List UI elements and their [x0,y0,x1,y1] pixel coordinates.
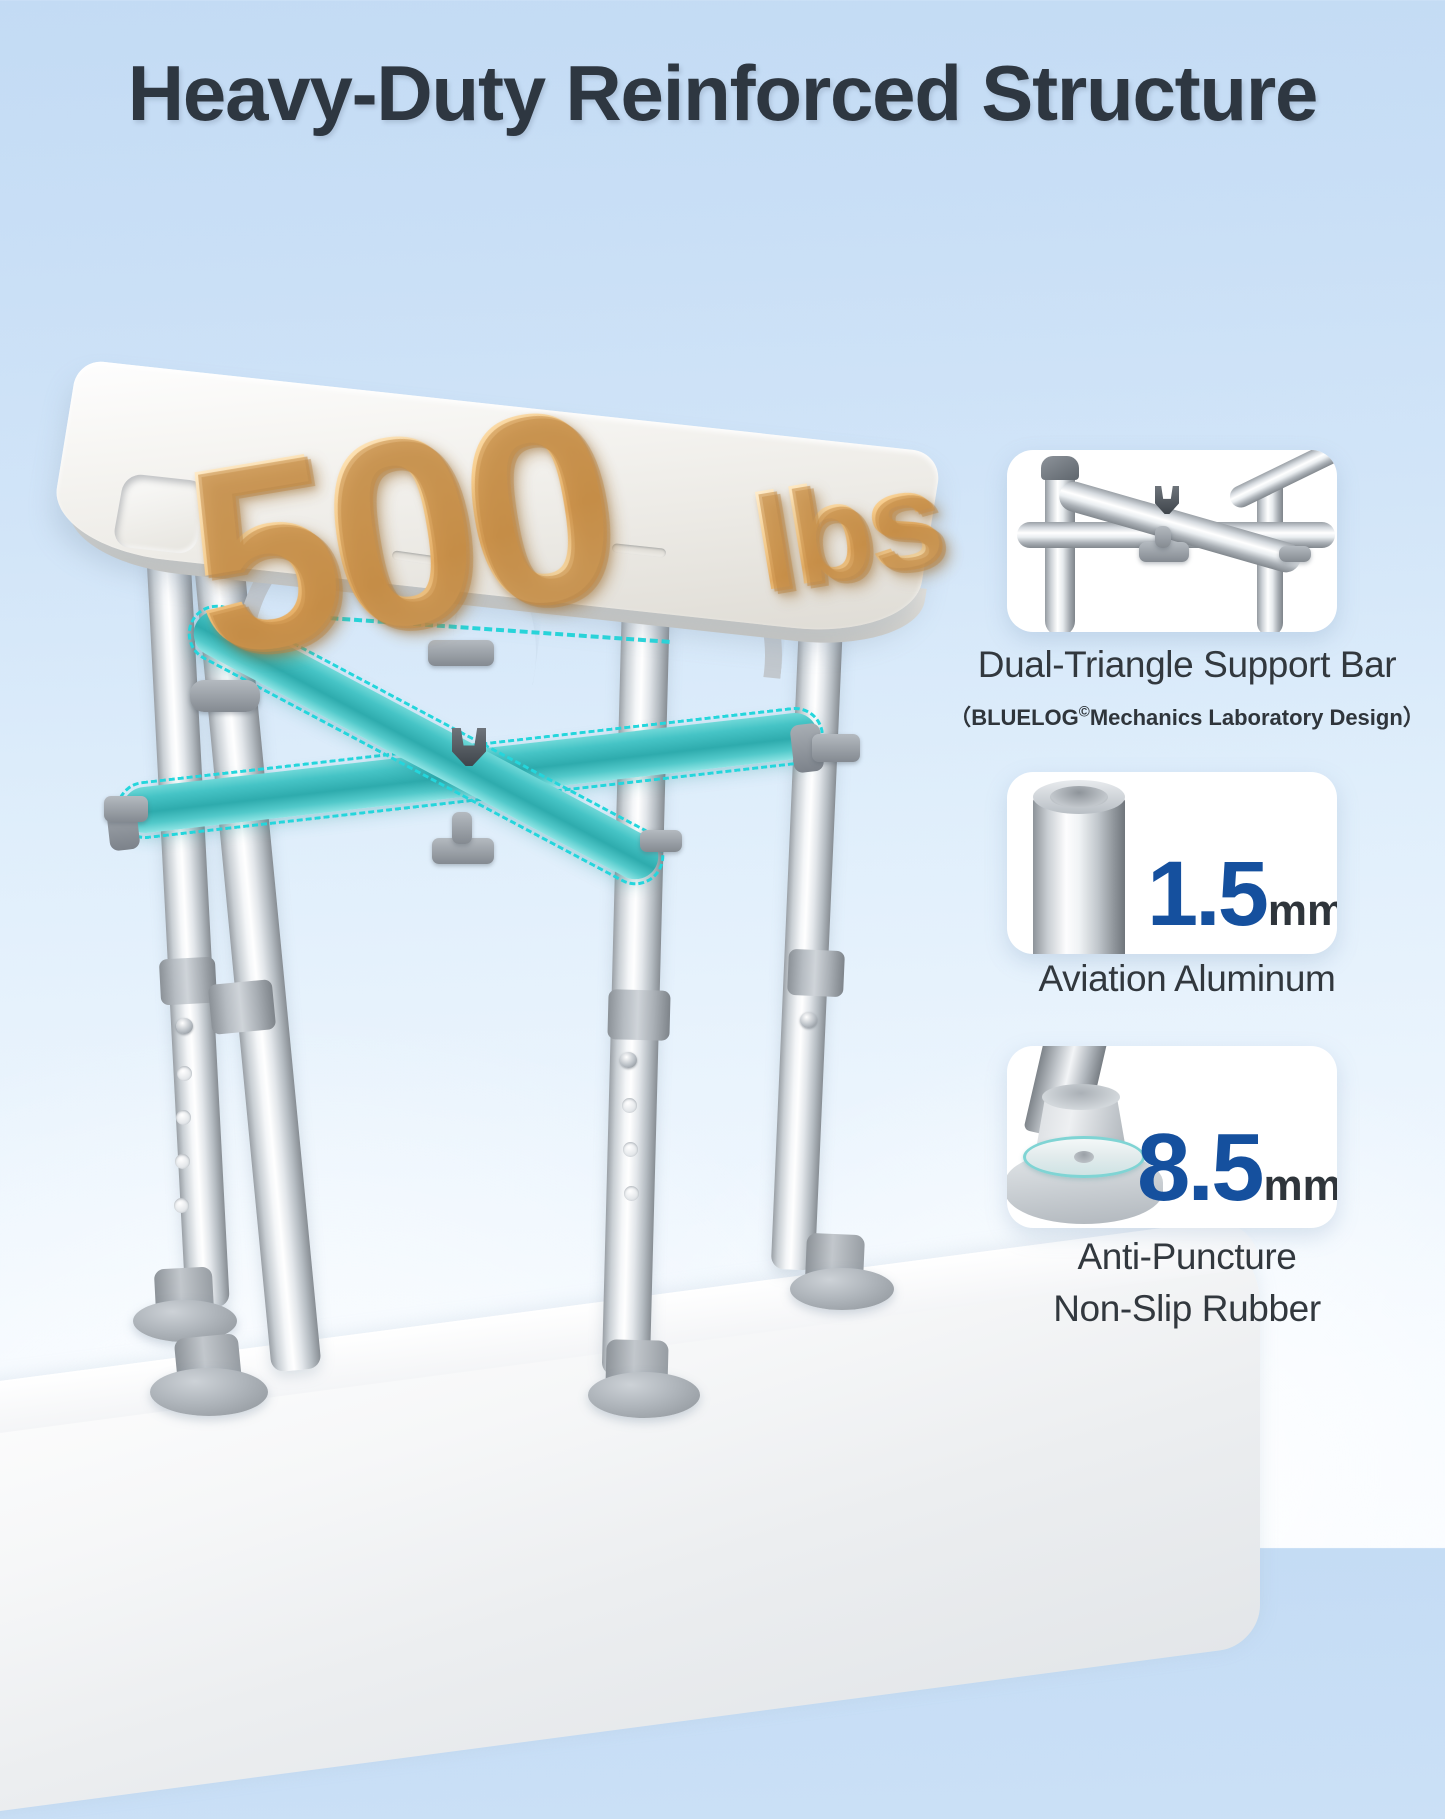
knob-left-outer [104,796,148,822]
weight-capacity-badge: 500 lbs [165,294,964,715]
height-hole [176,1110,191,1125]
product-illustration: 500 lbs [0,150,980,1548]
knob-right-inner [640,830,682,852]
tube-end-cap-icon [1041,456,1079,480]
height-hole [622,1098,637,1113]
tube-bore-icon [1050,786,1108,808]
metric-number: 1.5 [1147,843,1266,945]
feature-caption-dual-triangle: Dual-Triangle Support Bar [937,644,1437,686]
height-hole [623,1142,638,1157]
copyright-mark: © [1079,704,1090,721]
knob-right-outer [812,734,860,762]
height-pin-back-right [800,1012,817,1028]
weight-value: 500 [168,365,624,698]
aluminum-tube-icon [1033,796,1125,954]
height-hole [175,1154,190,1169]
sub-close-paren: ） [1403,705,1425,730]
leg-back-right [771,569,845,1270]
height-hole [177,1066,192,1081]
rubber-foot-front-right [588,1372,700,1418]
knob-side-icon [1279,546,1311,562]
feature-card-aviation-aluminum[interactable]: 1.5mm [1007,772,1337,954]
leg-collar-front-right [607,989,670,1041]
sub-rest-text: Mechanics Laboratory Design [1090,705,1403,730]
leg-collar-front-left [208,979,276,1035]
feature-card-dual-triangle-support-bar[interactable] [1007,450,1337,632]
height-hole [174,1198,189,1213]
rubber-cone-top-icon [1042,1084,1120,1110]
sub-open-paren: （ [949,705,971,730]
height-hole [624,1186,639,1201]
feature-subcaption-bluelog: （BLUELOG©Mechanics Laboratory Design） [937,700,1437,732]
disc-center-dot-icon [1074,1151,1094,1163]
feature-caption-aviation-aluminum: Aviation Aluminum [937,958,1437,1000]
rubber-foot-front-left [150,1368,268,1416]
feature-caption-anti-puncture: Anti-Puncture [937,1236,1437,1278]
metric-value-aluminum: 1.5mm [1147,848,1337,940]
metric-value-rubber: 8.5mm [1137,1120,1337,1216]
weight-unit: lbs [743,447,947,612]
feature-caption-non-slip: Non-Slip Rubber [937,1288,1437,1330]
height-pin-back-left [176,1018,193,1034]
metric-unit: mm [1263,1161,1337,1210]
leg-collar-back-right [787,949,845,997]
height-pin-front-right [620,1052,637,1068]
knob-center-stem [452,812,472,844]
knob-stem-icon [1155,526,1171,548]
brand-name: BLUELOG [971,705,1079,730]
metric-number: 8.5 [1137,1114,1261,1221]
rubber-foot-back-right [790,1268,894,1310]
page-title: Heavy-Duty Reinforced Structure [0,48,1445,139]
metric-unit: mm [1268,886,1337,935]
feature-card-anti-puncture-rubber[interactable]: 8.5mm [1007,1046,1337,1228]
leg-front-right [602,586,671,1377]
